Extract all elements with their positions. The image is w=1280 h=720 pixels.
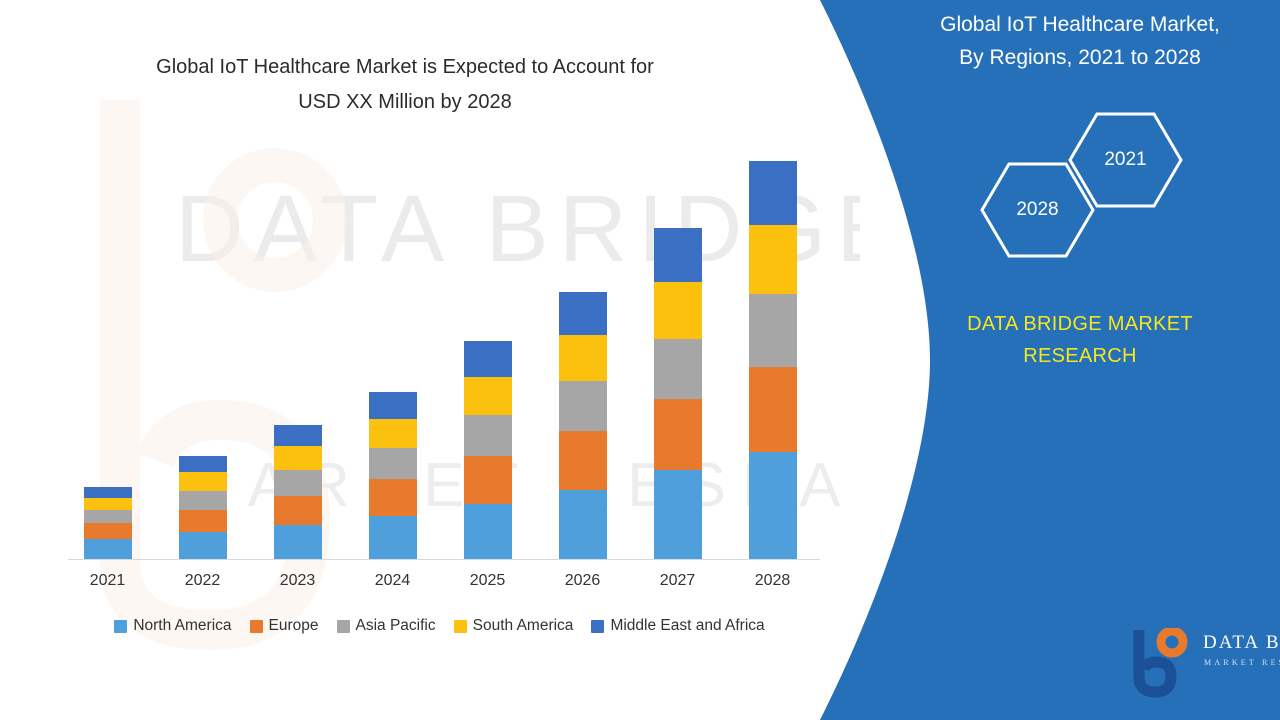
x-axis-label: 2023 [250, 572, 345, 590]
legend-label: North America [133, 617, 231, 635]
bar-segment [464, 415, 512, 456]
stacked-bar[interactable] [369, 392, 417, 559]
legend-item[interactable]: Middle East and Africa [591, 617, 764, 635]
x-axis-label: 2027 [630, 572, 725, 590]
x-axis-label: 2028 [725, 572, 820, 590]
bar-segment [84, 487, 132, 498]
stacked-bar[interactable] [274, 425, 322, 559]
bar-column [535, 150, 630, 559]
panel-title-line-1: Global IoT Healthcare Market, [940, 13, 1220, 36]
bar-segment [749, 367, 797, 452]
legend-item[interactable]: Europe [250, 617, 319, 635]
bar-segment [559, 431, 607, 490]
legend-swatch [250, 620, 263, 633]
bar-segment [464, 456, 512, 504]
x-axis-label: 2022 [155, 572, 250, 590]
legend-item[interactable]: Asia Pacific [337, 617, 436, 635]
bar-segment [559, 490, 607, 559]
logo-subtext: MARKET RESEARCH [1204, 658, 1280, 667]
bar-segment [274, 425, 322, 446]
bar-segment [84, 498, 132, 510]
legend-swatch [337, 620, 350, 633]
logo-text: DATA BRIDGE [1203, 632, 1280, 654]
stacked-bar[interactable] [464, 341, 512, 559]
bar-segment [369, 419, 417, 448]
bar-segment [559, 292, 607, 335]
brand-line-2: RESEARCH [1023, 345, 1137, 367]
bar-segment [464, 377, 512, 415]
x-axis-line [68, 559, 820, 560]
x-axis-label: 2025 [440, 572, 535, 590]
bar-segment [84, 539, 132, 559]
legend-item[interactable]: South America [454, 617, 574, 635]
bar-segment [654, 399, 702, 470]
bar-segment [84, 523, 132, 539]
x-axis-label: 2021 [60, 572, 155, 590]
bar-column [725, 150, 820, 559]
bar-segment [559, 335, 607, 381]
legend-label: Middle East and Africa [610, 617, 764, 635]
chart-plot-area [60, 150, 820, 560]
bar-segment [179, 510, 227, 532]
bar-segment [559, 381, 607, 431]
bar-segment [749, 452, 797, 559]
bar-segment [274, 496, 322, 525]
stacked-bar-group [60, 150, 820, 559]
infographic-slide: DATA BRIDGE MARKET RESEARCH Global IoT H… [0, 0, 1280, 720]
bar-segment [654, 470, 702, 559]
bar-segment [369, 448, 417, 479]
legend-label: South America [473, 617, 574, 635]
legend-label: Europe [269, 617, 319, 635]
legend-swatch [454, 620, 467, 633]
x-axis-tick-labels: 20212022202320242025202620272028 [60, 572, 820, 590]
chart-title-line-2: USD XX Million by 2028 [55, 85, 755, 120]
panel-title: Global IoT Healthcare Market, By Regions… [820, 8, 1280, 74]
stacked-bar[interactable] [749, 161, 797, 559]
stacked-bar[interactable] [84, 487, 132, 559]
bar-column [440, 150, 535, 559]
chart-legend: North AmericaEuropeAsia PacificSouth Ame… [52, 617, 827, 635]
bar-segment [179, 456, 227, 472]
brand-name: DATA BRIDGE MARKET RESEARCH [820, 308, 1280, 372]
stacked-bar[interactable] [179, 456, 227, 559]
brand-line-1: DATA BRIDGE MARKET [967, 313, 1193, 335]
bar-column [155, 150, 250, 559]
legend-label: Asia Pacific [356, 617, 436, 635]
bar-segment [274, 446, 322, 470]
right-info-panel: Global IoT Healthcare Market, By Regions… [820, 0, 1280, 720]
bar-segment [464, 341, 512, 377]
bar-segment [749, 161, 797, 225]
x-axis-label: 2026 [535, 572, 630, 590]
bar-column [630, 150, 725, 559]
bar-segment [369, 392, 417, 419]
legend-item[interactable]: North America [114, 617, 231, 635]
stacked-bar[interactable] [654, 228, 702, 559]
bar-segment [369, 479, 417, 516]
chart-title-line-1: Global IoT Healthcare Market is Expected… [156, 56, 654, 78]
bar-segment [179, 532, 227, 559]
bar-segment [654, 228, 702, 281]
bar-segment [274, 470, 322, 496]
x-axis-label: 2024 [345, 572, 440, 590]
bar-segment [369, 516, 417, 559]
legend-swatch [114, 620, 127, 633]
bar-segment [654, 282, 702, 339]
hexagon-2021: 2021 [1068, 110, 1183, 210]
panel-title-line-2: By Regions, 2021 to 2028 [880, 41, 1280, 74]
chart-title: Global IoT Healthcare Market is Expected… [55, 50, 755, 120]
hexagon-badges: 2028 2021 [980, 130, 1280, 260]
bar-segment [84, 510, 132, 523]
bar-segment [179, 472, 227, 491]
stacked-bar[interactable] [559, 292, 607, 559]
bar-segment [179, 491, 227, 511]
bar-segment [464, 504, 512, 559]
hexagon-2021-label: 2021 [1068, 110, 1183, 210]
bar-segment [654, 339, 702, 399]
bar-column [345, 150, 440, 559]
bar-segment [274, 525, 322, 559]
bar-segment [749, 225, 797, 294]
bar-column [60, 150, 155, 559]
bar-segment [749, 294, 797, 367]
legend-swatch [591, 620, 604, 633]
logo-mark-icon [1125, 628, 1197, 698]
company-logo: DATA BRIDGE MARKET RESEARCH [1125, 628, 1280, 698]
bar-column [250, 150, 345, 559]
